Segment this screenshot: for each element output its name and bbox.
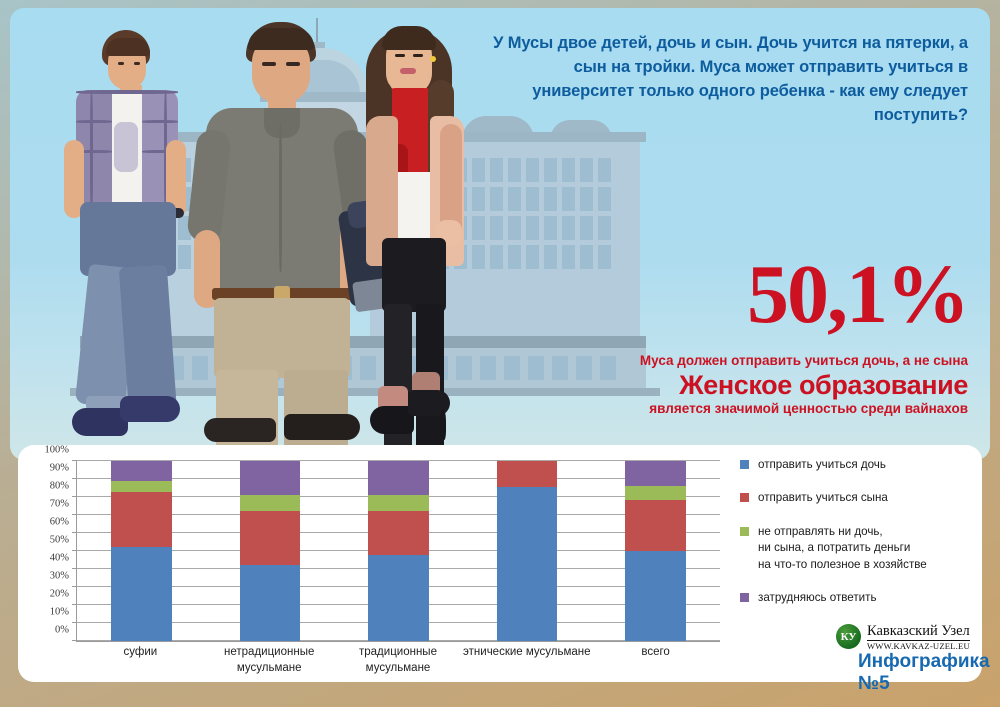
legend-label: не отправлять ни дочь, ни сына, а потрат… bbox=[758, 524, 927, 573]
y-axis-label: 40% bbox=[50, 553, 69, 564]
bar-segment[interactable] bbox=[240, 511, 300, 564]
y-axis-label: 50% bbox=[50, 535, 69, 546]
bar-segment[interactable] bbox=[111, 461, 171, 481]
site-logo[interactable]: КУ Кавказский Узел WWW.KAVKAZ-UZEL.EU bbox=[836, 623, 970, 651]
legend-item[interactable]: отправить учиться дочь bbox=[740, 457, 972, 473]
legend-swatch bbox=[740, 593, 749, 602]
person-young-man bbox=[46, 30, 186, 450]
legend-label: затрудняюсь ответить bbox=[758, 590, 876, 606]
stacked-bar[interactable] bbox=[497, 461, 557, 641]
bar-segment[interactable] bbox=[240, 495, 300, 511]
bar-column[interactable] bbox=[334, 461, 463, 641]
logo-badge-icon: КУ bbox=[836, 624, 861, 649]
chart-bars bbox=[77, 461, 720, 641]
legend-label: отправить учиться дочь bbox=[758, 457, 886, 473]
bar-segment[interactable] bbox=[368, 555, 428, 641]
bar-segment[interactable] bbox=[625, 461, 685, 486]
bar-segment[interactable] bbox=[111, 492, 171, 548]
y-axis-label: 70% bbox=[50, 499, 69, 510]
stacked-bar[interactable] bbox=[240, 461, 300, 641]
x-axis-label: этнические мусульмане bbox=[462, 645, 591, 661]
y-axis-label: 10% bbox=[50, 607, 69, 618]
legend-item[interactable]: затрудняюсь ответить bbox=[740, 590, 972, 606]
bar-segment[interactable] bbox=[625, 486, 685, 500]
stacked-bar[interactable] bbox=[111, 461, 171, 641]
stacked-bar[interactable] bbox=[625, 461, 685, 641]
legend-swatch bbox=[740, 527, 749, 536]
logo-name: Кавказский Узел bbox=[867, 623, 970, 641]
infographic-number: Инфографика №5 bbox=[858, 651, 990, 695]
legend-swatch bbox=[740, 493, 749, 502]
legend-label: отправить учиться сына bbox=[758, 490, 888, 506]
chart-panel: 0%10%20%30%40%50%60%70%80%90%100% суфиин… bbox=[18, 445, 982, 682]
bar-segment[interactable] bbox=[240, 461, 300, 495]
bar-segment[interactable] bbox=[625, 551, 685, 641]
x-axis-label: суфии bbox=[76, 645, 205, 661]
bar-segment[interactable] bbox=[368, 495, 428, 510]
bar-segment[interactable] bbox=[111, 547, 171, 641]
stat-subline: является значимой ценностью среди вайнах… bbox=[488, 401, 968, 416]
bar-column[interactable] bbox=[463, 461, 592, 641]
y-axis-label: 80% bbox=[50, 481, 69, 492]
chart-plot-area: 0%10%20%30%40%50%60%70%80%90%100% bbox=[76, 461, 720, 642]
infographic-poster: У Мусы двое детей, дочь и сын. Дочь учит… bbox=[0, 0, 1000, 707]
logo-url: WWW.KAVKAZ-UZEL.EU bbox=[867, 641, 970, 651]
bar-column[interactable] bbox=[77, 461, 206, 641]
stat-headline: Женское образование bbox=[488, 370, 968, 401]
bar-segment[interactable] bbox=[368, 511, 428, 555]
legend-item[interactable]: отправить учиться сына bbox=[740, 490, 972, 506]
bar-segment[interactable] bbox=[497, 461, 557, 487]
y-axis-label: 0% bbox=[55, 625, 69, 636]
chart-legend: отправить учиться дочьотправить учиться … bbox=[740, 457, 972, 624]
bar-segment[interactable] bbox=[111, 481, 171, 492]
bar-column[interactable] bbox=[206, 461, 335, 641]
legend-item[interactable]: не отправлять ни дочь, ни сына, а потрат… bbox=[740, 524, 972, 573]
x-axis-label: традиционные мусульмане bbox=[334, 645, 463, 676]
stacked-bar[interactable] bbox=[368, 461, 428, 641]
bar-segment[interactable] bbox=[368, 461, 428, 495]
person-young-woman bbox=[344, 24, 474, 452]
y-axis-label: 20% bbox=[50, 589, 69, 600]
stat-value: 50,1% bbox=[488, 256, 968, 333]
bar-segment[interactable] bbox=[497, 487, 557, 641]
y-axis-label: 30% bbox=[50, 571, 69, 582]
bar-column[interactable] bbox=[591, 461, 720, 641]
bar-segment[interactable] bbox=[240, 565, 300, 642]
y-axis-label: 100% bbox=[45, 445, 70, 456]
x-axis-label: нетрадиционные мусульмане bbox=[205, 645, 334, 676]
stacked-bar-chart: 0%10%20%30%40%50%60%70%80%90%100% суфиин… bbox=[28, 453, 728, 675]
bar-segment[interactable] bbox=[625, 500, 685, 551]
legend-swatch bbox=[740, 460, 749, 469]
scene-illustration: У Мусы двое детей, дочь и сын. Дочь учит… bbox=[10, 8, 990, 460]
y-axis-label: 90% bbox=[50, 463, 69, 474]
y-axis-label: 60% bbox=[50, 517, 69, 528]
header-question: У Мусы двое детей, дочь и сын. Дочь учит… bbox=[468, 32, 968, 128]
x-axis-label: всего bbox=[591, 645, 720, 661]
stat-caption: Муса должен отправить учиться дочь, а не… bbox=[488, 353, 968, 368]
